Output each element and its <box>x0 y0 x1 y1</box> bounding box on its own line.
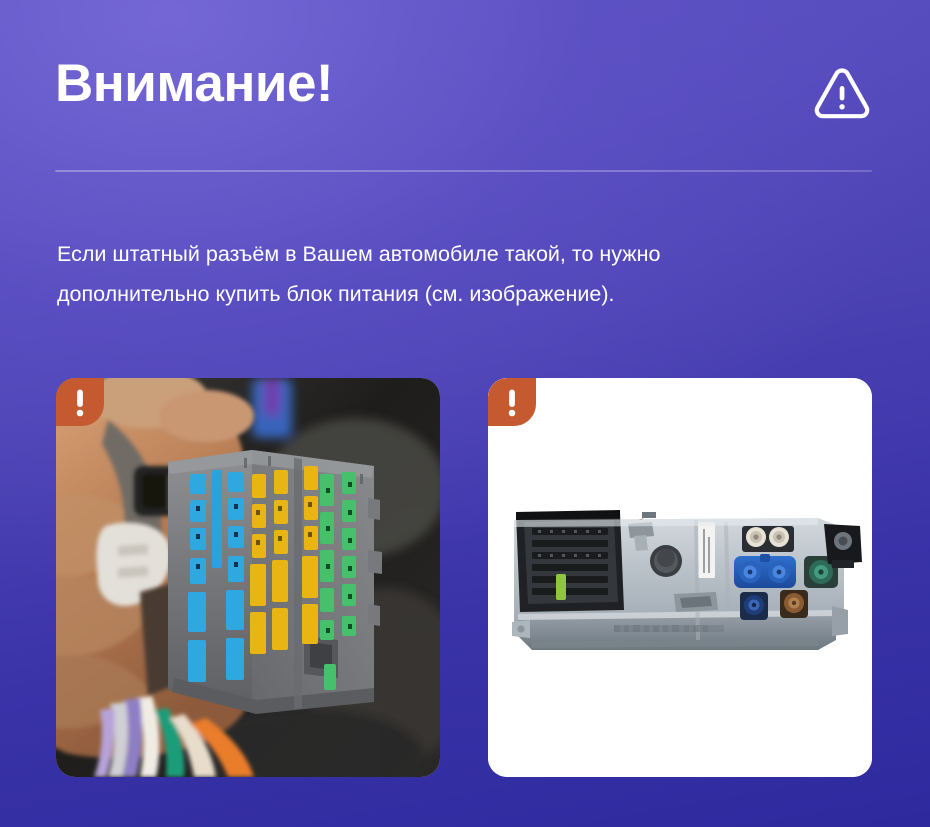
connector-photo-card[interactable] <box>56 378 440 777</box>
attention-notice-page: Внимание! Если штатный разъём в Вашем ав… <box>0 0 930 827</box>
notice-paragraph: Если штатный разъём в Вашем автомобиле т… <box>57 234 871 314</box>
header-divider <box>55 170 872 172</box>
warning-triangle-icon <box>812 64 872 122</box>
power-unit-photo-card[interactable] <box>488 378 872 777</box>
exclamation-badge-icon <box>488 378 536 426</box>
header: Внимание! <box>55 52 872 144</box>
connector-photo <box>56 378 440 777</box>
image-card-row <box>56 378 872 777</box>
notice-line-2: дополнительно купить блок питания (см. и… <box>57 274 871 314</box>
page-title: Внимание! <box>55 52 872 116</box>
notice-line-1: Если штатный разъём в Вашем автомобиле т… <box>57 242 660 266</box>
exclamation-badge-icon <box>56 378 104 426</box>
power-unit-photo <box>488 378 872 777</box>
